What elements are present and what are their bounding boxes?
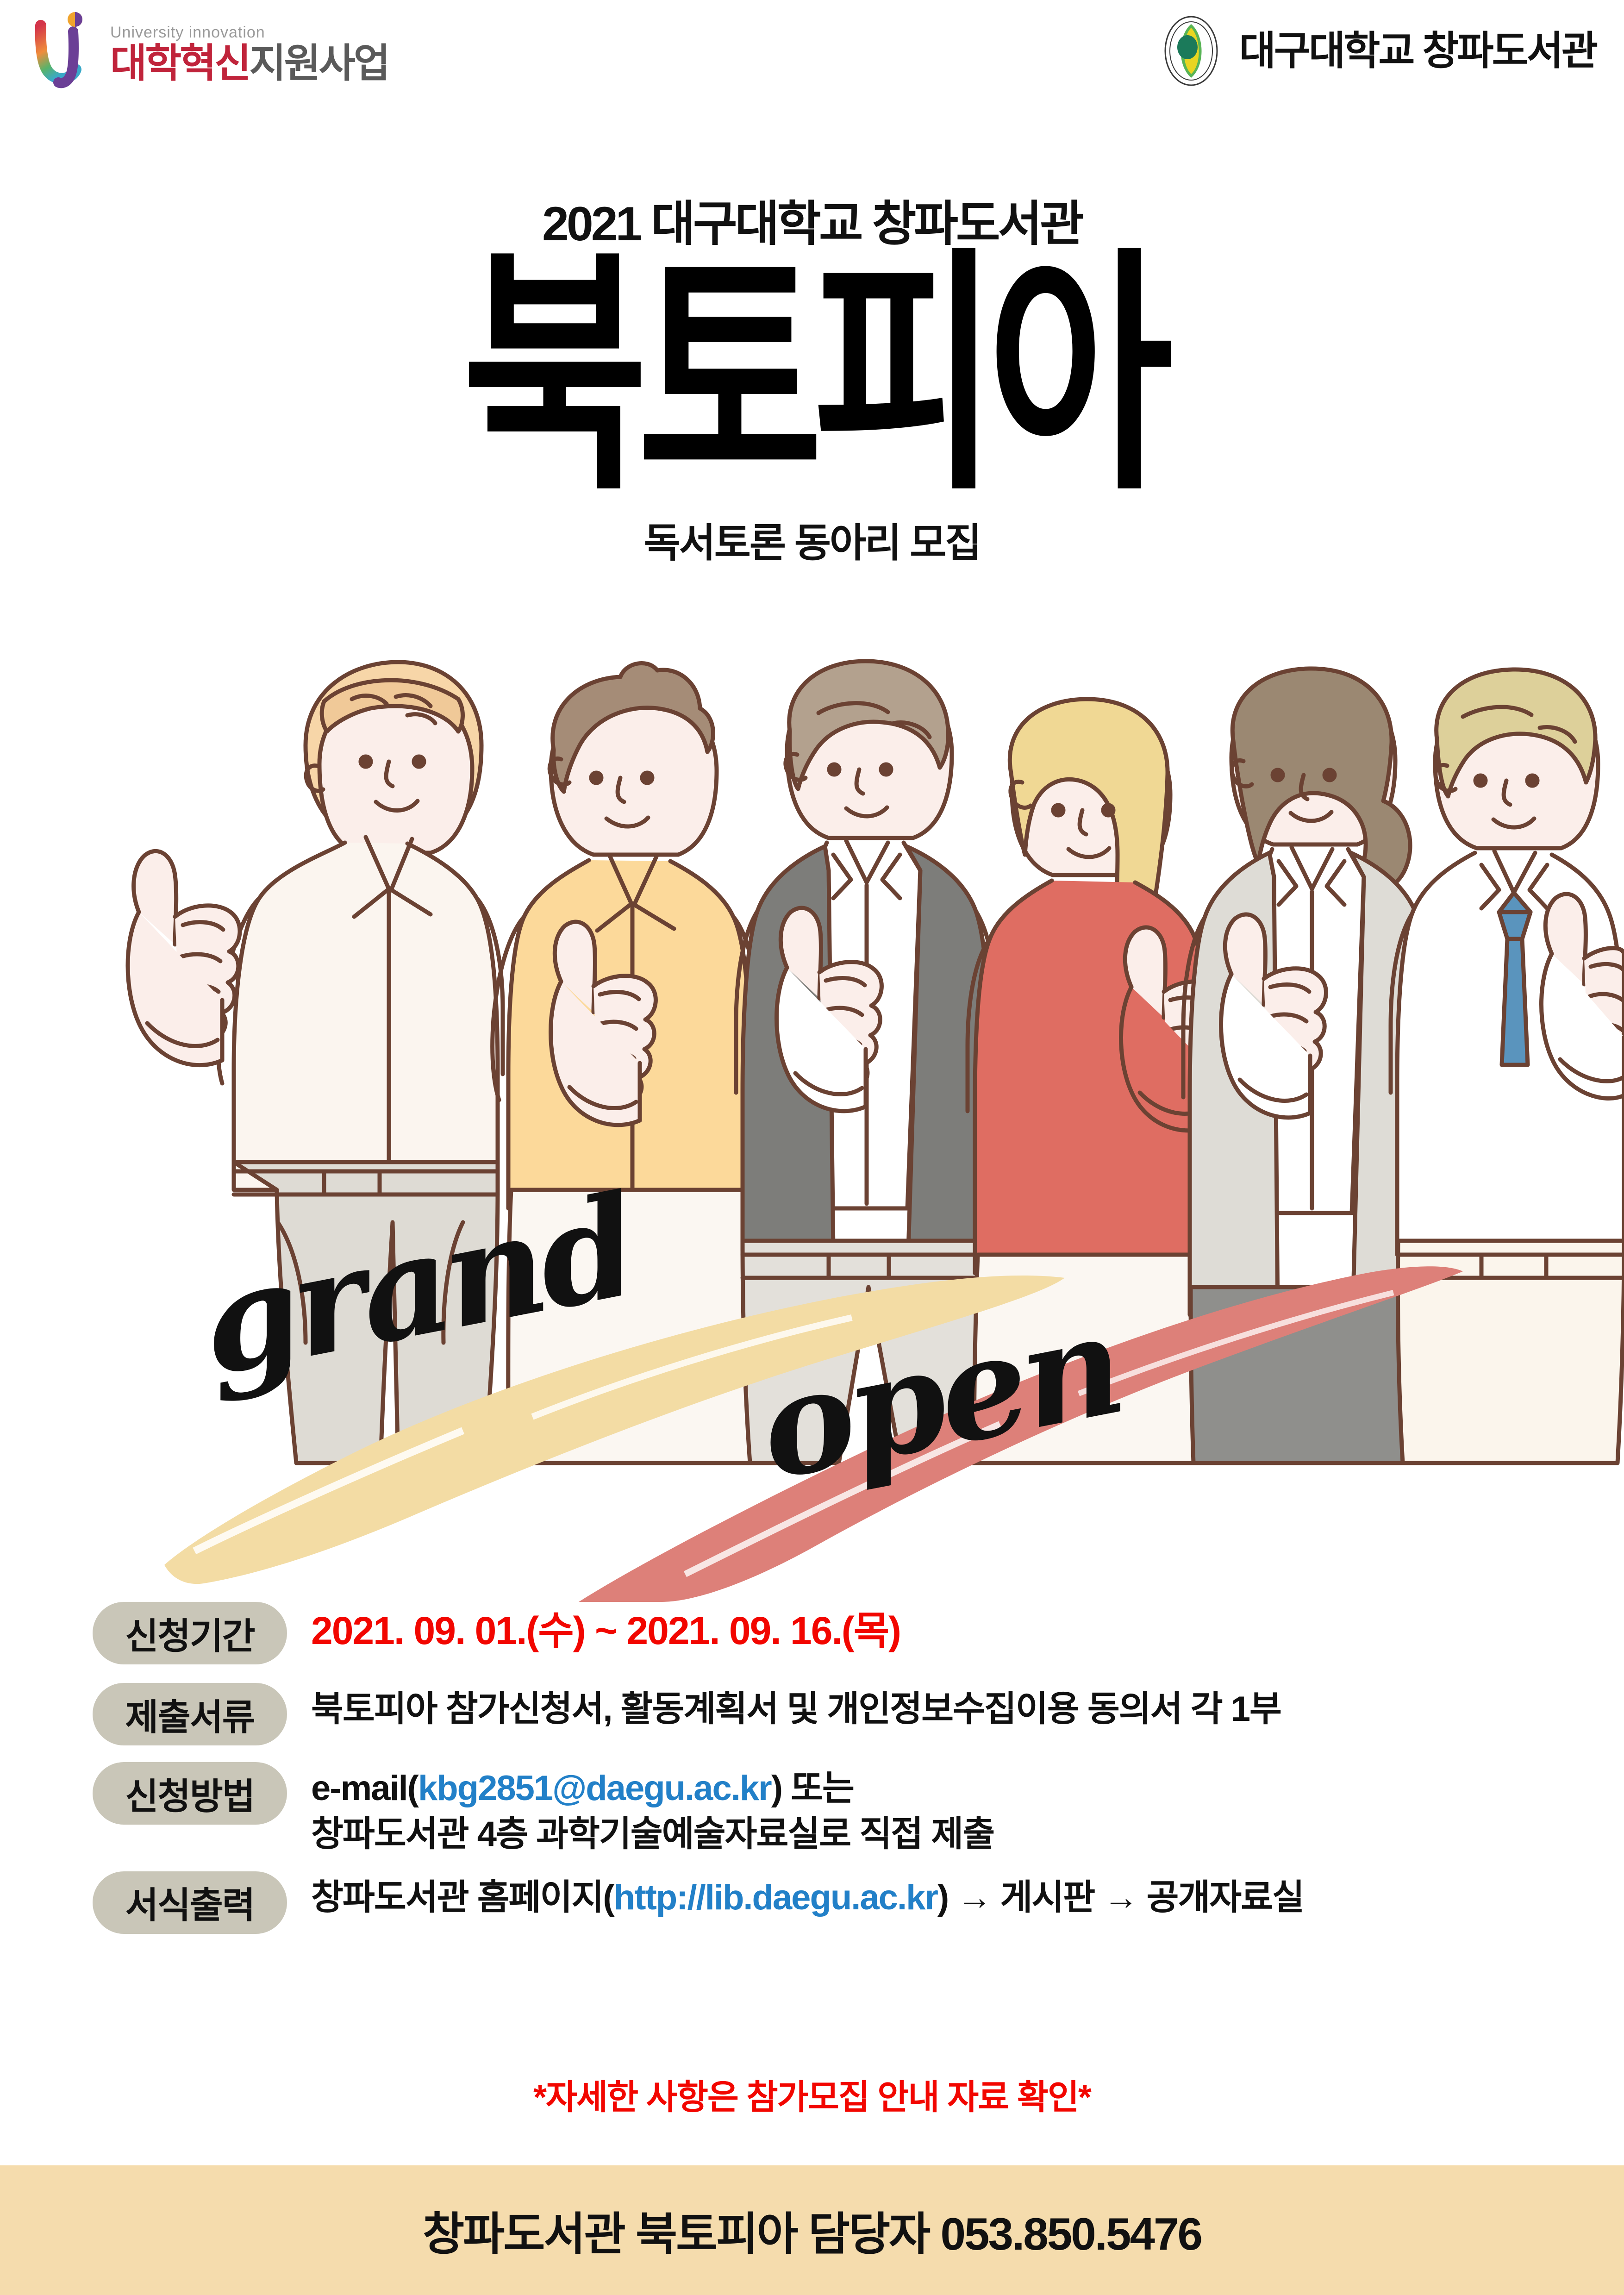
footer-bar: 창파도서관 북토피아 담당자 053.850.5476: [0, 2165, 1624, 2295]
email-link[interactable]: kbg2851@daegu.ac.kr: [418, 1769, 771, 1808]
ui-logo-kor-gray: 지원사업: [249, 41, 388, 86]
application-period-value: 2021. 09. 01.(수) ~ 2021. 09. 16.(목): [311, 1606, 1624, 1656]
homepage-suffix: ) → 게시판 → 공개자료실: [937, 1878, 1304, 1917]
how-to-apply-line-1: e-mail(kbg2851@daegu.ac.kr) 또는: [311, 1766, 1624, 1812]
form-download-line: 창파도서관 홈페이지(http://lib.daegu.ac.kr) → 게시판…: [311, 1875, 1624, 1921]
info-row-documents: 제출서류 북토피아 참가신청서, 활동계획서 및 개인정보수집이용 동의서 각 …: [0, 1683, 1624, 1745]
info-row-form-download: 서식출력 창파도서관 홈페이지(http://lib.daegu.ac.kr) …: [0, 1871, 1624, 1934]
pill-label: 제출서류: [125, 1688, 254, 1740]
pill-label: 신청방법: [125, 1768, 254, 1820]
email-prefix: e-mail(: [311, 1769, 418, 1808]
ui-logo-kor-red: 대학혁신: [110, 41, 249, 86]
university-innovation-logo: University innovation 대학혁신지원사업: [32, 9, 388, 90]
library-logo: 대구대학교 창파도서관: [1154, 14, 1596, 88]
poster-title: 북토피아: [57, 258, 1567, 494]
detail-note: *자세한 사항은 참가모집 안내 자료 확인*: [0, 2070, 1624, 2119]
documents-value: 북토피아 참가신청서, 활동계획서 및 개인정보수집이용 동의서 각 1부: [311, 1687, 1624, 1732]
homepage-link[interactable]: http://lib.daegu.ac.kr: [614, 1878, 937, 1917]
homepage-prefix: 창파도서관 홈페이지(: [311, 1878, 614, 1917]
daegu-university-seal-icon: [1154, 14, 1228, 88]
info-table: 신청기간 2021. 09. 01.(수) ~ 2021. 09. 16.(목)…: [0, 1602, 1624, 1947]
pill-label: 신청기간: [125, 1607, 254, 1659]
pill-application-period: 신청기간: [93, 1602, 287, 1664]
title-block: 2021 대구대학교 창파도서관 북토피아 독서토론 동아리 모집: [0, 199, 1624, 568]
grand-word: grand: [187, 1164, 646, 1407]
email-suffix: ) 또는: [771, 1769, 854, 1808]
grand-open-lettering: grand open: [0, 1176, 1624, 1593]
info-row-application-period: 신청기간 2021. 09. 01.(수) ~ 2021. 09. 16.(목): [0, 1602, 1624, 1664]
info-row-how-to-apply: 신청방법 e-mail(kbg2851@daegu.ac.kr) 또는 창파도서…: [0, 1762, 1624, 1857]
how-to-apply-line-2: 창파도서관 4층 과학기술예술자료실로 직접 제출: [311, 1812, 1624, 1857]
library-logo-label: 대구대학교 창파도서관: [1239, 31, 1596, 71]
ui-logo-eng: University innovation: [110, 24, 388, 42]
pill-form-download: 서식출력: [93, 1871, 287, 1934]
ui-logo-mark: [32, 9, 102, 90]
open-word: open: [747, 1282, 1132, 1511]
pill-how-to-apply: 신청방법: [93, 1762, 287, 1825]
pill-label: 서식출력: [125, 1876, 254, 1928]
footer-contact: 창파도서관 북토피아 담당자 053.850.5476: [423, 2197, 1201, 2263]
pill-documents: 제출서류: [93, 1683, 287, 1745]
